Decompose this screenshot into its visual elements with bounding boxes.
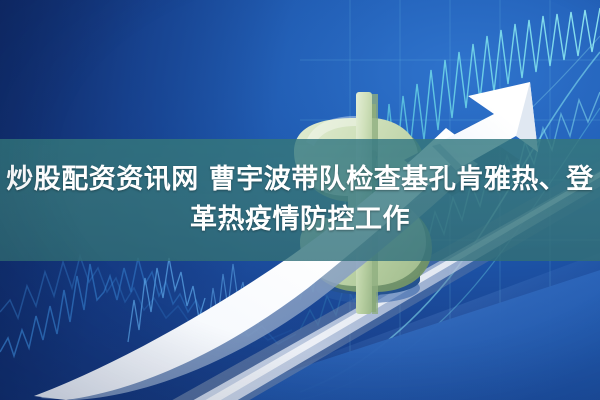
- article-header-image: 炒股配资资讯网 曹宇波带队检查基孔肯雅热、登 革热疫情防控工作: [0, 0, 600, 400]
- vignette-overlay: [0, 0, 600, 400]
